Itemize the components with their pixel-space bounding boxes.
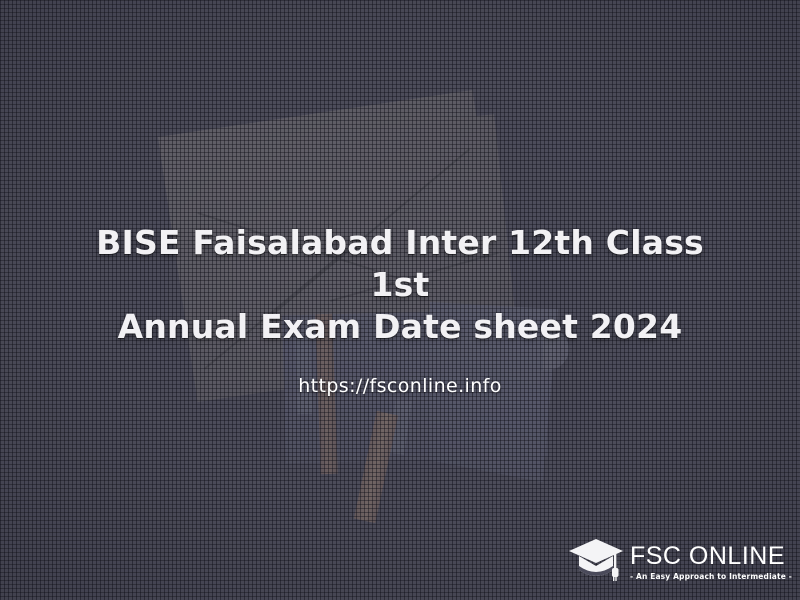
page-title-line-1: BISE Faisalabad Inter 12th Class 1st xyxy=(70,222,730,306)
site-url: https://fsconline.info xyxy=(298,375,502,397)
logo-tagline: - An Easy Approach to Intermediate - xyxy=(630,573,792,581)
site-logo: FSC ONLINE - An Easy Approach to Interme… xyxy=(568,535,792,590)
page-title: BISE Faisalabad Inter 12th Class 1st Ann… xyxy=(70,222,730,349)
banner-content: BISE Faisalabad Inter 12th Class 1st Ann… xyxy=(0,0,800,600)
logo-name: FSC ONLINE xyxy=(630,544,792,569)
page-title-line-2: Annual Exam Date sheet 2024 xyxy=(70,306,730,348)
graduation-cap-icon xyxy=(568,535,624,590)
banner-image: BISE Faisalabad Inter 12th Class 1st Ann… xyxy=(0,0,800,600)
logo-text-block: FSC ONLINE - An Easy Approach to Interme… xyxy=(630,544,792,581)
